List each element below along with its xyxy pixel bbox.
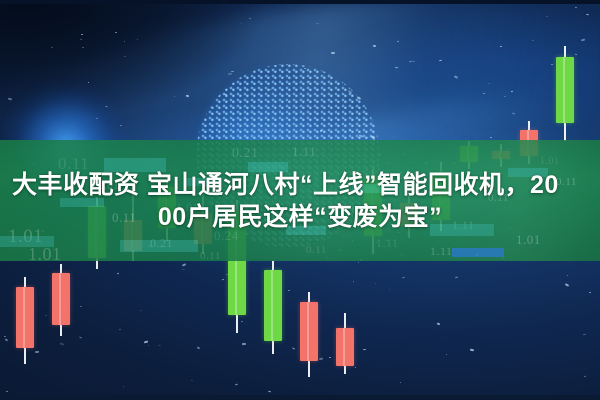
bottom-edge-bar (0, 395, 600, 400)
candlestick (264, 261, 282, 353)
candlestick (300, 292, 318, 376)
candlestick (52, 264, 70, 336)
candle-body-up (556, 57, 574, 124)
headline-line-2: 00户居民这样“变废为宝” (12, 201, 588, 233)
candlestick (336, 313, 354, 374)
candlestick (556, 46, 574, 141)
thumbnail-image: 0.110.211.111.010.111.010.111.111.010.21… (0, 0, 600, 400)
candlestick (16, 277, 34, 364)
candle-body-up (264, 270, 282, 340)
candle-body-down (300, 302, 318, 361)
candle-body-down (16, 287, 34, 348)
headline-line-1: 大丰收配资 宝山通河八村“上线”智能回收机，20 (12, 169, 588, 201)
candle-body-down (336, 328, 354, 366)
headline-block: 大丰收配资 宝山通河八村“上线”智能回收机，20 00户居民这样“变废为宝” (0, 140, 600, 261)
candle-body-down (52, 273, 70, 325)
top-edge-bar (0, 0, 600, 4)
